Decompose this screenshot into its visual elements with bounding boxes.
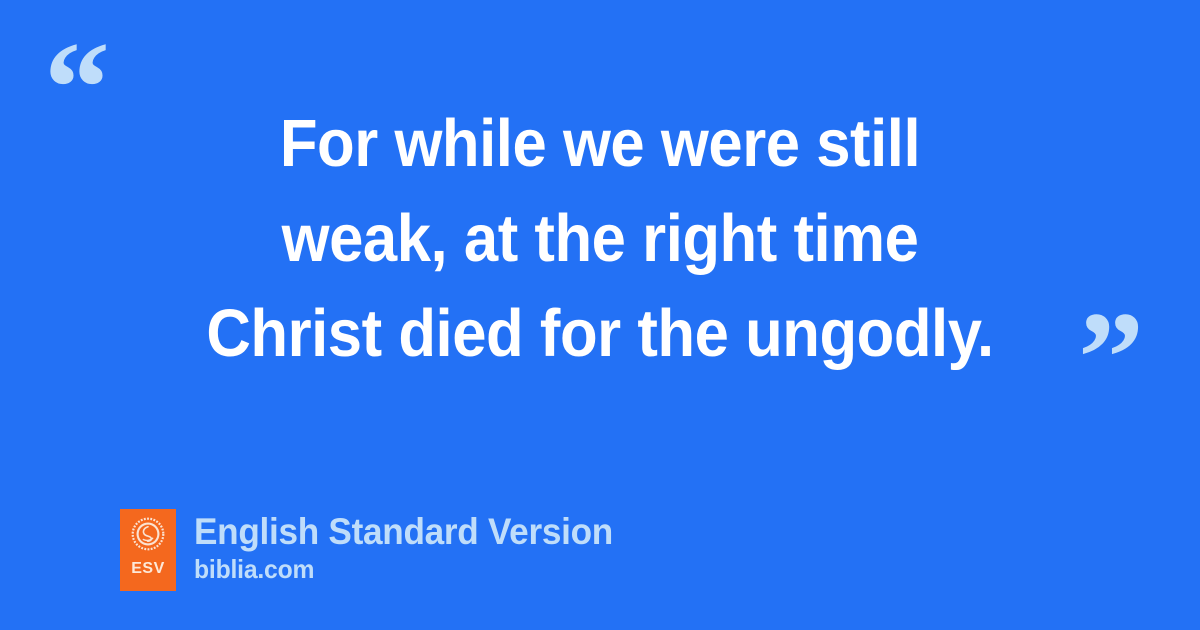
attribution-text: English Standard Version biblia.com [194, 509, 635, 584]
bible-version-name: English Standard Version [194, 510, 613, 554]
esv-logo-badge: ESV [120, 509, 176, 591]
quote-line-1: For while we were still [103, 96, 1097, 191]
site-url-label: biblia.com [194, 554, 613, 584]
quote-card: “ For while we were still weak, at the r… [0, 0, 1200, 630]
quote-line-2: weak, at the right time [103, 191, 1097, 286]
close-quote-icon: ” [1078, 292, 1142, 424]
esv-badge-label: ESV [131, 561, 165, 577]
quote-text-block: For while we were still weak, at the rig… [60, 96, 1140, 381]
esv-seal-icon [131, 517, 165, 551]
attribution: ESV English Standard Version biblia.com [120, 509, 635, 591]
quote-line-3: Christ died for the ungodly. [103, 286, 1097, 381]
